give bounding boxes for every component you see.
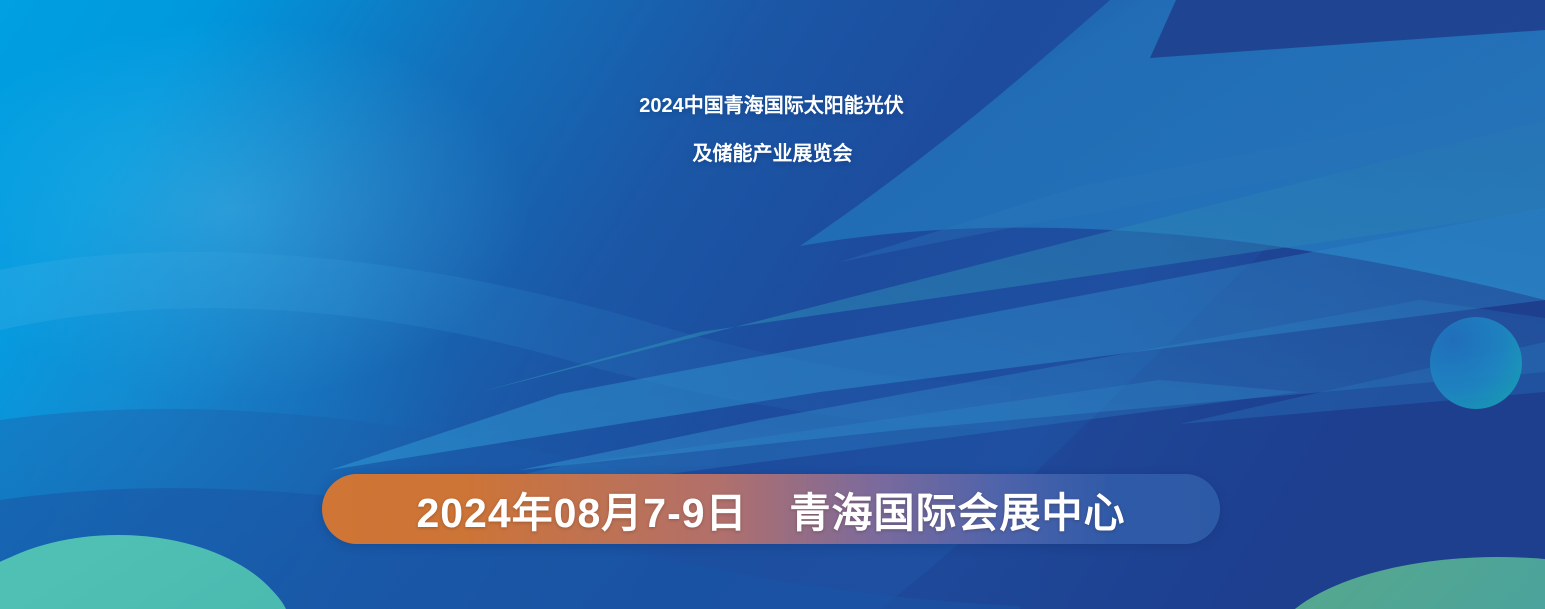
banner-content: 2024中国青海国际太阳能光伏 及储能产业展览会 2024年08月7-9日 青海…	[0, 0, 1545, 609]
title-line-secondary: 及储能产业展览会	[0, 144, 1545, 164]
title-line-primary: 2024中国青海国际太阳能光伏	[0, 96, 1545, 116]
date-venue-pill: 2024年08月7-9日 青海国际会展中心	[322, 474, 1220, 544]
date-venue-text: 2024年08月7-9日 青海国际会展中心	[416, 479, 1125, 539]
event-banner: 2024中国青海国际太阳能光伏 及储能产业展览会 2024年08月7-9日 青海…	[0, 0, 1545, 609]
banner-title: 2024中国青海国际太阳能光伏 及储能产业展览会	[0, 96, 1545, 164]
